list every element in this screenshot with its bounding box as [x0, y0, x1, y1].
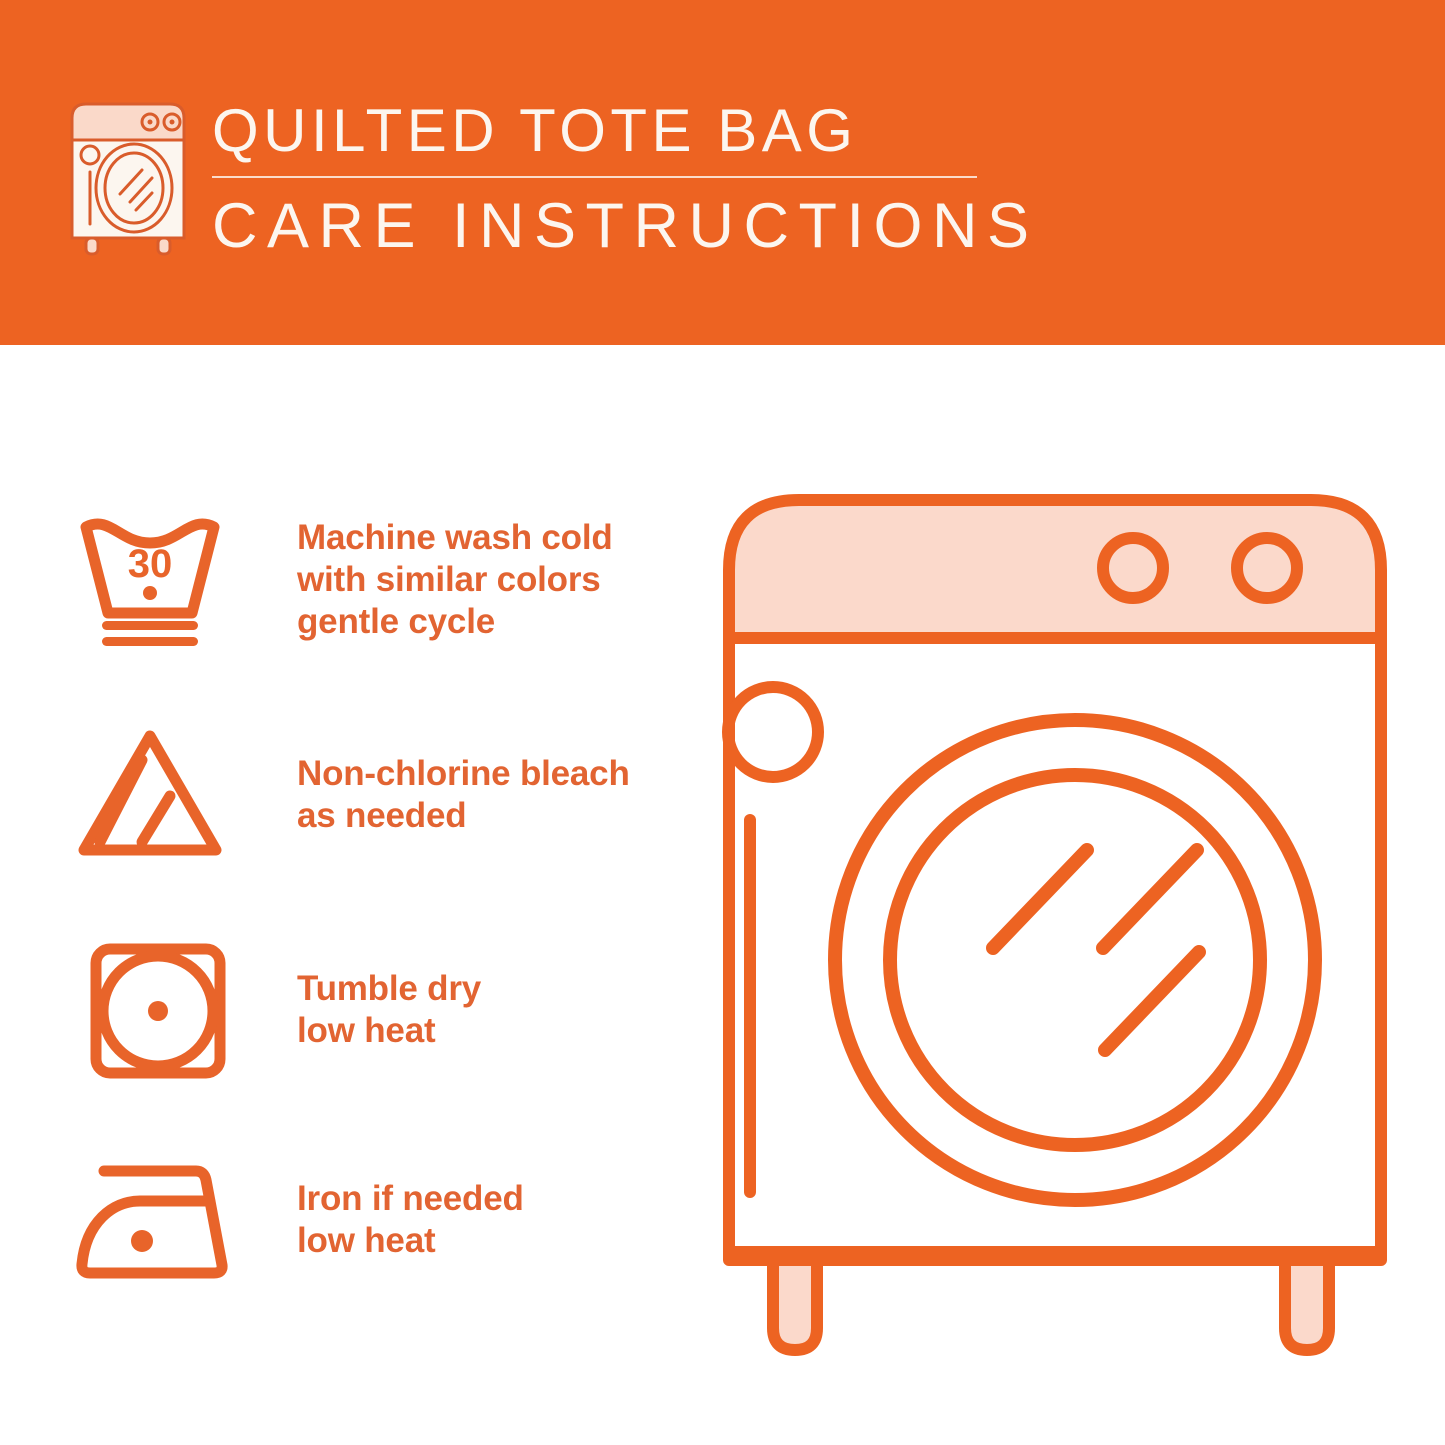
header-text-block: QUILTED TOTE BAG CARE INSTRUCTIONS	[212, 95, 1012, 264]
page-title: QUILTED TOTE BAG	[212, 95, 1012, 167]
care-line: as needed	[297, 795, 630, 837]
care-label-machine-wash: Machine wash cold with similar colors ge…	[297, 517, 613, 643]
machine-wash-30-icon: 30	[70, 505, 235, 655]
tumble-dry-low-icon	[70, 935, 235, 1085]
care-line: low heat	[297, 1220, 524, 1262]
washing-machine-icon	[62, 98, 194, 256]
care-label-iron: Iron if needed low heat	[297, 1178, 524, 1262]
care-line: Machine wash cold	[297, 517, 613, 559]
care-row-bleach: Non-chlorine bleach as needed	[70, 710, 690, 880]
care-line: gentle cycle	[297, 601, 613, 643]
care-line: with similar colors	[297, 559, 613, 601]
care-line: Tumble dry	[297, 968, 481, 1010]
care-line: Iron if needed	[297, 1178, 524, 1220]
care-label-tumble-dry: Tumble dry low heat	[297, 968, 481, 1052]
header-banner: QUILTED TOTE BAG CARE INSTRUCTIONS	[0, 0, 1445, 345]
iron-low-heat-icon	[70, 1145, 235, 1295]
care-row-machine-wash: 30 Machine wash cold with similar colors…	[70, 495, 690, 665]
care-line: low heat	[297, 1010, 481, 1052]
svg-text:30: 30	[128, 542, 173, 586]
title-divider	[212, 176, 977, 178]
care-row-tumble-dry: Tumble dry low heat	[70, 925, 690, 1095]
care-row-iron: Iron if needed low heat	[70, 1135, 690, 1305]
washing-machine-illustration	[705, 470, 1405, 1370]
care-line: Non-chlorine bleach	[297, 753, 630, 795]
page-subtitle: CARE INSTRUCTIONS	[212, 188, 1012, 264]
care-label-bleach: Non-chlorine bleach as needed	[297, 753, 630, 837]
care-instruction-list: 30 Machine wash cold with similar colors…	[0, 345, 700, 1445]
non-chlorine-bleach-icon	[70, 720, 235, 870]
